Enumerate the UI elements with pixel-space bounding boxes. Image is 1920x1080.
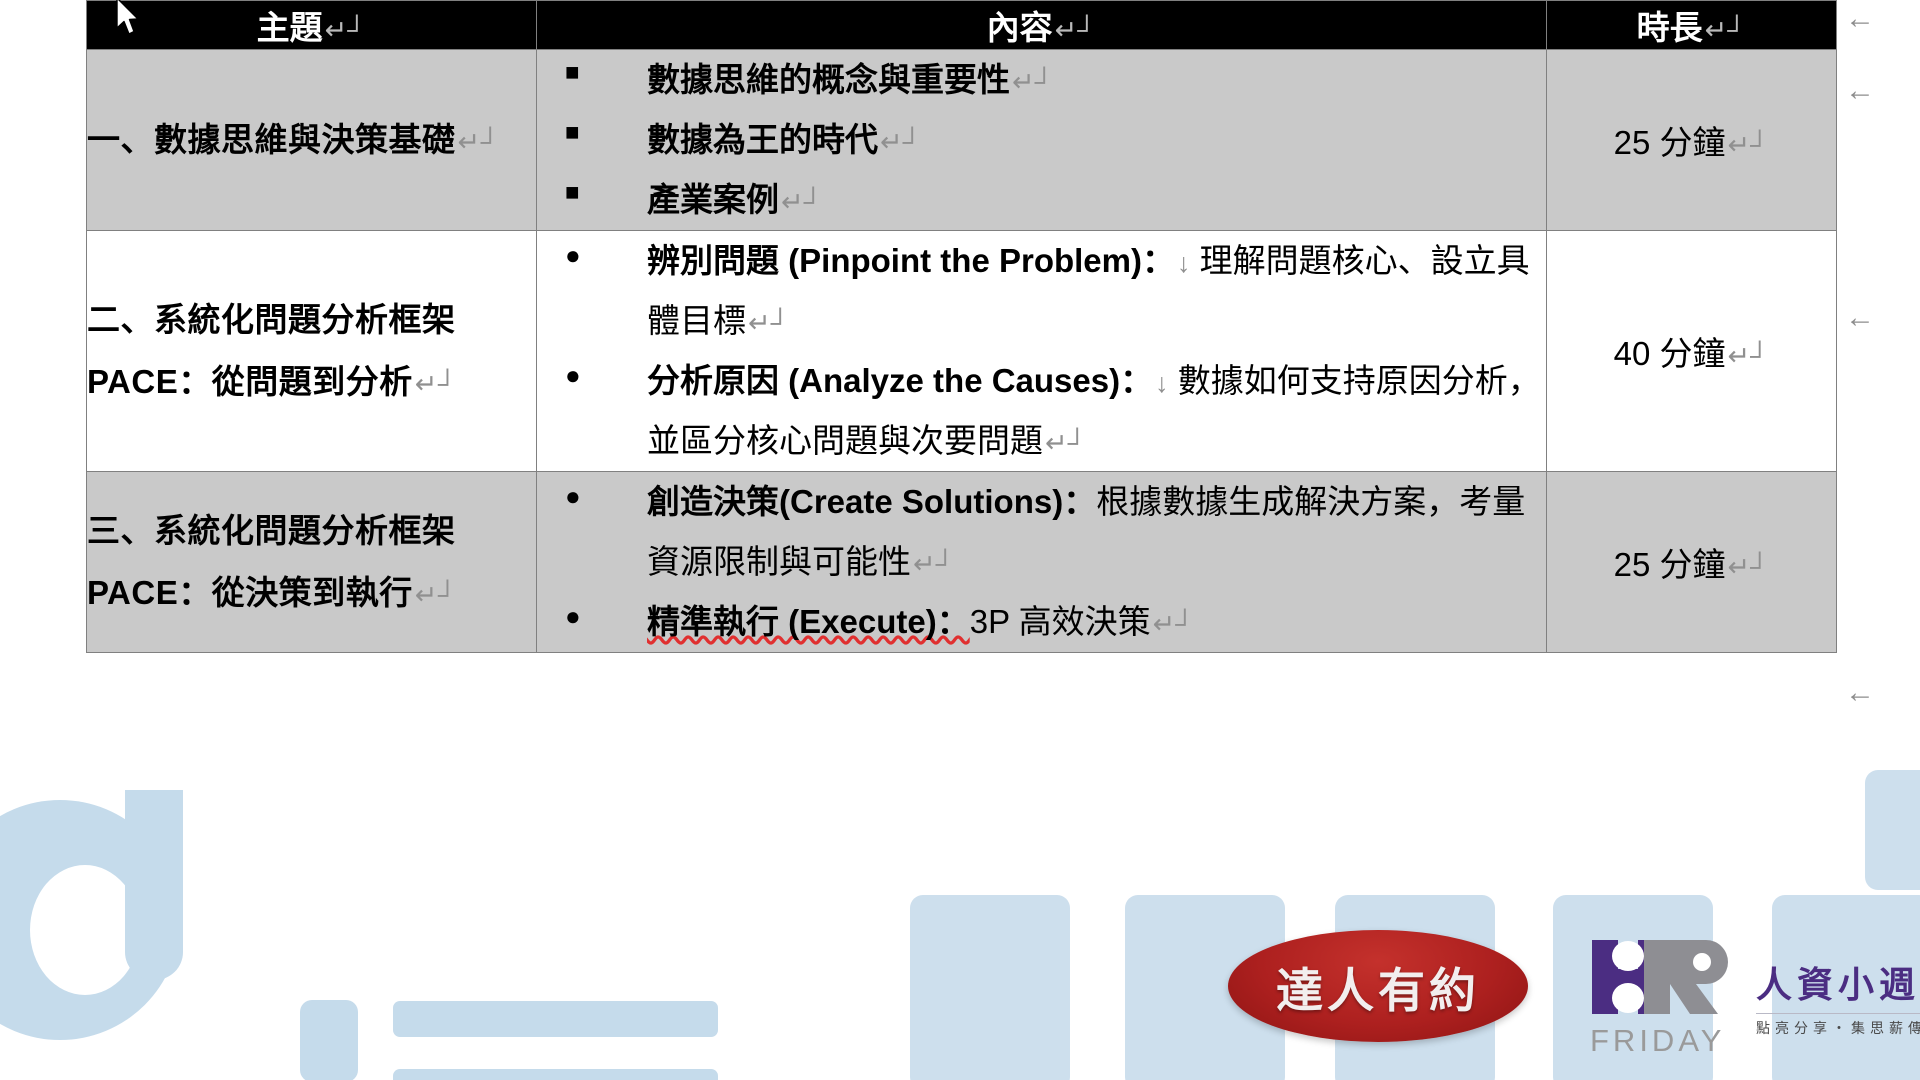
list-item-lead-misspelled: 精準執行 (Execute)： <box>647 603 970 640</box>
decorative-circle-hole <box>30 865 140 995</box>
column-header-duration-label: 時長 <box>1637 9 1703 46</box>
square-bullet-icon: ■ <box>565 170 580 216</box>
round-bullet-icon: ● <box>565 351 581 400</box>
column-header-duration[interactable]: 時長↵┘ <box>1547 1 1837 50</box>
row-change-arrow: ← <box>1845 303 1875 333</box>
topic-text: 一、數據思維與決策基礎 <box>87 121 456 158</box>
list-item[interactable]: ■ 數據為王的時代↵┘ <box>537 110 1546 170</box>
pilcrow-mark: ↵┘ <box>1726 130 1770 160</box>
decorative-stem-left <box>125 790 183 980</box>
list-item-lead: 數據為王的時代 <box>647 121 878 158</box>
cell-topic[interactable]: 三、系統化問題分析框架 PACE：從決策到執行↵┘ <box>87 472 537 653</box>
pilcrow-mark: ↵┘ <box>878 127 922 157</box>
duration-text: 25 分鐘 <box>1614 124 1726 161</box>
table-row[interactable]: 三、系統化問題分析框架 PACE：從決策到執行↵┘ ● 創造決策(Create … <box>87 472 1837 653</box>
logo-friday-text: FRIDAY <box>1590 1023 1740 1059</box>
cell-content[interactable]: ● 辨別問題 (Pinpoint the Problem)：↓ 理解問題核心、設… <box>537 231 1547 472</box>
agenda-table[interactable]: 主題↵┘ 內容↵┘ 時長↵┘ 一、數據思維與決策基礎↵┘ <box>86 0 1837 653</box>
list-item-lead: 分析原因 (Analyze the Causes)： <box>647 362 1153 399</box>
duration-text: 25 分鐘 <box>1614 546 1726 583</box>
cell-duration[interactable]: 25 分鐘↵┘ <box>1547 50 1837 231</box>
row-change-arrow: ← <box>1845 678 1875 708</box>
list-item[interactable]: ● 辨別問題 (Pinpoint the Problem)：↓ 理解問題核心、設… <box>537 231 1546 351</box>
pilcrow-mark: ↵┘ <box>456 127 501 157</box>
round-bullet-icon: ● <box>565 231 581 280</box>
column-header-topic[interactable]: 主題↵┘ <box>87 1 537 50</box>
decorative-list-square <box>300 1000 358 1080</box>
row-change-arrow: ← <box>1845 76 1875 106</box>
badge-label: 達人有約 <box>1276 952 1480 1021</box>
soft-break-icon: ↓ <box>1153 368 1169 398</box>
logo-chinese-name: 人資小週末 <box>1756 956 1920 1008</box>
cell-topic[interactable]: 二、系統化問題分析框架 PACE：從問題到分析↵┘ <box>87 231 537 472</box>
cell-topic[interactable]: 一、數據思維與決策基礎↵┘ <box>87 50 537 231</box>
list-item[interactable]: ● 分析原因 (Analyze the Causes)：↓ 數據如何支持原因分析… <box>537 351 1546 471</box>
table-row[interactable]: 二、系統化問題分析框架 PACE：從問題到分析↵┘ ● 辨別問題 (Pinpoi… <box>87 231 1837 472</box>
pilcrow-mark: ↵┘ <box>1726 552 1770 582</box>
list-item[interactable]: ■ 數據思維的概念與重要性↵┘ <box>537 50 1546 110</box>
cell-duration[interactable]: 40 分鐘↵┘ <box>1547 231 1837 472</box>
bullet-list: ● 創造決策(Create Solutions)：根據數據生成解決方案，考量資源… <box>537 472 1546 652</box>
column-header-topic-label: 主題 <box>257 9 323 46</box>
list-item[interactable]: ■ 產業案例↵┘ <box>537 170 1546 230</box>
topic-text: 二、系統化問題分析框架 PACE：從問題到分析 <box>87 301 456 400</box>
topic-text: 三、系統化問題分析框架 PACE：從決策到執行 <box>87 512 456 611</box>
row-change-arrow: ← <box>1845 4 1875 34</box>
pilcrow-mark: ↵┘ <box>911 549 955 579</box>
table-row[interactable]: 一、數據思維與決策基礎↵┘ ■ 數據思維的概念與重要性↵┘ ■ 數據為王的時代↵… <box>87 50 1837 231</box>
slide-canvas: 主題↵┘ 內容↵┘ 時長↵┘ 一、數據思維與決策基礎↵┘ <box>0 0 1920 1080</box>
pilcrow-mark: ↵┘ <box>1010 67 1054 97</box>
cell-duration[interactable]: 25 分鐘↵┘ <box>1547 472 1837 653</box>
pilcrow-mark: ↵┘ <box>413 580 458 610</box>
pilcrow-mark: ↵┘ <box>746 308 790 338</box>
list-item-lead: 創造決策(Create Solutions)： <box>647 483 1096 520</box>
duration-text: 40 分鐘 <box>1614 335 1726 372</box>
pilcrow-mark: ↵┘ <box>1151 609 1195 639</box>
agenda-table-wrapper: 主題↵┘ 內容↵┘ 時長↵┘ 一、數據思維與決策基礎↵┘ <box>86 0 1836 653</box>
hr-friday-logo[interactable]: FRIDAY 人資小週末 點亮分享・集思薪傳 <box>1590 938 1920 1059</box>
round-bullet-icon: ● <box>565 472 581 521</box>
list-item-lead: 產業案例 <box>647 181 779 218</box>
logo-divider <box>1756 1013 1920 1014</box>
list-item-rest: 3P 高效決策 <box>970 603 1151 640</box>
logo-wordmark: 人資小週末 點亮分享・集思薪傳 <box>1756 938 1920 1038</box>
list-item-lead: 數據思維的概念與重要性 <box>647 61 1010 98</box>
soft-break-icon: ↓ <box>1175 248 1191 278</box>
square-bullet-icon: ■ <box>565 50 580 96</box>
pilcrow-mark: ↵┘ <box>323 15 367 45</box>
round-bullet-icon: ● <box>565 592 581 641</box>
decorative-list-bar-1 <box>393 1001 718 1037</box>
pilcrow-mark: ↵┘ <box>779 187 823 217</box>
logo-mark: FRIDAY <box>1590 938 1740 1059</box>
square-bullet-icon: ■ <box>565 110 580 156</box>
pilcrow-mark: ↵┘ <box>1726 341 1770 371</box>
bullet-list: ■ 數據思維的概念與重要性↵┘ ■ 數據為王的時代↵┘ ■ 產業案例↵┘ <box>537 50 1546 230</box>
pilcrow-mark: ↵┘ <box>1043 428 1087 458</box>
pilcrow-mark: ↵┘ <box>1703 15 1747 45</box>
column-header-content[interactable]: 內容↵┘ <box>537 1 1547 50</box>
list-item[interactable]: ● 創造決策(Create Solutions)：根據數據生成解決方案，考量資源… <box>537 472 1546 592</box>
table-header-row: 主題↵┘ 內容↵┘ 時長↵┘ <box>87 1 1837 50</box>
column-header-content-label: 內容 <box>987 9 1053 46</box>
pilcrow-mark: ↵┘ <box>1053 15 1097 45</box>
agenda-table-body: 一、數據思維與決策基礎↵┘ ■ 數據思維的概念與重要性↵┘ ■ 數據為王的時代↵… <box>87 50 1837 653</box>
expert-appointment-badge[interactable]: 達人有約 <box>1228 930 1528 1042</box>
list-item-lead: 辨別問題 (Pinpoint the Problem)： <box>647 242 1175 279</box>
decorative-block-1 <box>910 895 1070 1080</box>
pilcrow-mark: ↵┘ <box>413 369 458 399</box>
hr-monogram-icon <box>1590 938 1740 1016</box>
bullet-list: ● 辨別問題 (Pinpoint the Problem)：↓ 理解問題核心、設… <box>537 231 1546 471</box>
list-item[interactable]: ● 精準執行 (Execute)：3P 高效決策↵┘ <box>537 592 1546 652</box>
cell-content[interactable]: ■ 數據思維的概念與重要性↵┘ ■ 數據為王的時代↵┘ ■ 產業案例↵┘ <box>537 50 1547 231</box>
mouse-cursor-icon <box>116 0 142 38</box>
logo-tagline: 點亮分享・集思薪傳 <box>1756 1018 1920 1038</box>
decorative-block-6 <box>1865 770 1920 890</box>
cell-content[interactable]: ● 創造決策(Create Solutions)：根據數據生成解決方案，考量資源… <box>537 472 1547 653</box>
decorative-list-bar-2 <box>393 1069 718 1080</box>
